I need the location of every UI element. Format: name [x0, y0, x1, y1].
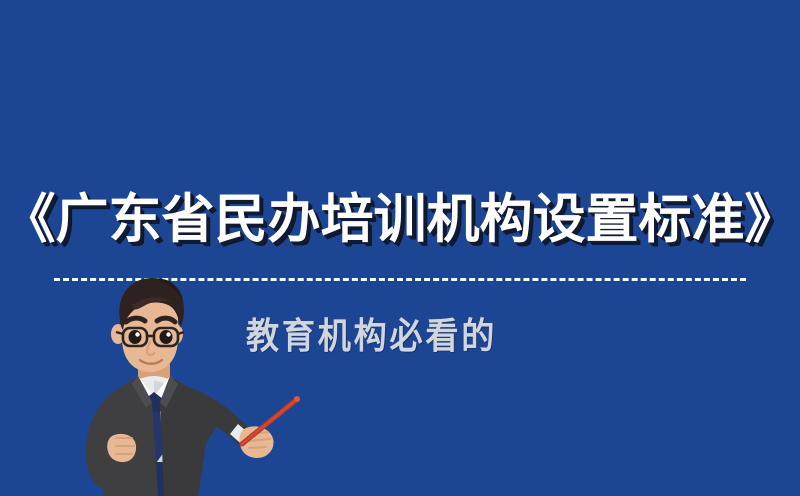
eye-right-highlight	[166, 332, 170, 336]
teacher-figure-svg	[60, 276, 310, 496]
page-title: 《广东省民办培训机构设置标准》	[3, 193, 798, 246]
slide-canvas: 《广东省民办培训机构设置标准》 教育机构必看的	[0, 0, 800, 496]
teacher-illustration	[60, 276, 310, 496]
eye-right	[160, 330, 173, 344]
eye-left-highlight	[135, 332, 139, 336]
eye-left	[129, 330, 142, 344]
title-container: 《广东省民办培训机构设置标准》	[0, 182, 800, 256]
